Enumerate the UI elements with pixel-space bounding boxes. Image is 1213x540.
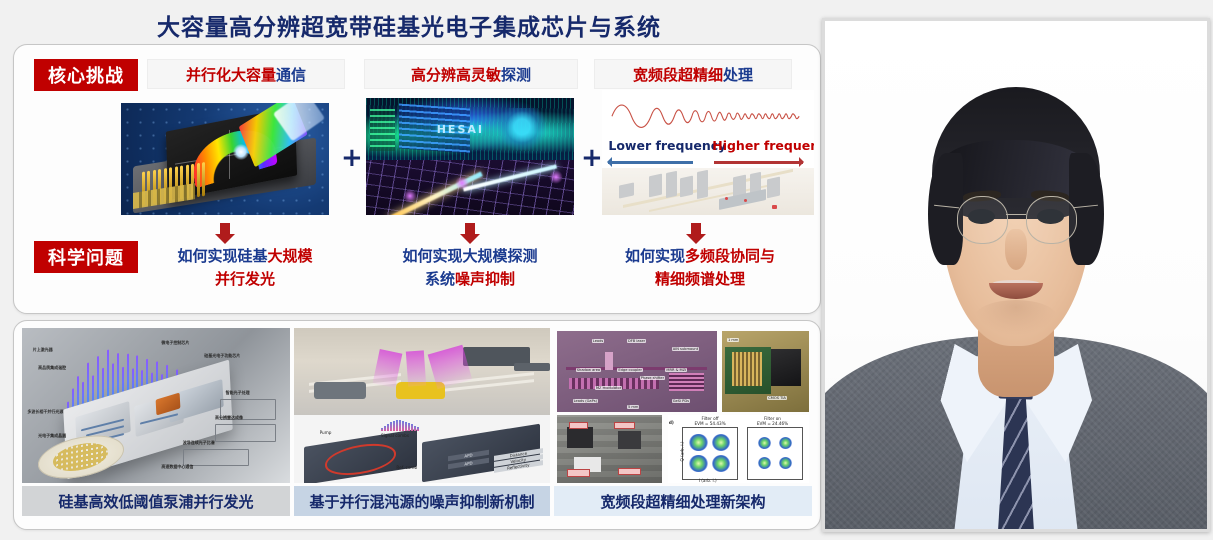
iso-wafer-die-grid xyxy=(54,439,109,474)
schem-label-ref-comb: Ref. comb xyxy=(396,465,417,470)
bottom-panel: 片上激光器 高品质集成谐腔 多波长相干并行光源 微电子控制芯片 硅基光电子功能芯… xyxy=(13,320,821,530)
micro-label: MZ modulator xyxy=(595,386,622,390)
science-question-2-blue: 如何实现大规模探测 xyxy=(402,247,537,265)
iso-label: 多波长相干并行光源 xyxy=(27,409,63,415)
bottom-caption-3: 宽频段超精细处理新架构 xyxy=(554,486,812,516)
iso-label: 光电子集成晶圆 xyxy=(38,433,66,439)
micro-label: Phase shifter xyxy=(640,376,665,380)
lidar-glow-dot xyxy=(549,170,563,184)
science-question-1-blue: 如何实现硅基 xyxy=(177,247,267,265)
chirp-waveform xyxy=(610,95,805,138)
micro-label: DFB laser xyxy=(627,339,646,343)
iso-label: 微电子控制芯片 xyxy=(161,340,189,346)
portrait-hair-side-left xyxy=(928,153,962,265)
iso-label: 高分辨雷达成像 xyxy=(215,415,243,421)
image-photonic-integrated-chip-diagram: 片上激光器 高品质集成谐腔 多波长相干并行光源 微电子控制芯片 硅基光电子功能芯… xyxy=(22,328,290,483)
constellation-diagrams: d) Filter off EVM = 54.43% Filter on EVM… xyxy=(668,415,810,483)
chip-micrograph: Leads DFB laser AlN submount Shadow area… xyxy=(557,331,717,412)
tag-core-challenge: 核心挑战 xyxy=(34,59,138,91)
science-question-3: 如何实现多频段协同与 精细频谱处理 xyxy=(600,245,800,292)
image-frequency-spectrum: Lower frequency Higher frequency xyxy=(602,90,814,215)
constellation-left-value: EVM = 54.43% xyxy=(685,421,736,426)
iso-label: 高速数据中心通信 xyxy=(161,464,193,470)
city-applications-illustration xyxy=(602,168,814,216)
schem-label-pump: Pump xyxy=(320,430,332,435)
lidar-pointcloud-scene: HESAI xyxy=(366,98,574,161)
micro2-label: CMOS TIA xyxy=(767,396,787,400)
constellation-panel-letter: d) xyxy=(669,420,674,425)
iso-label: 智能光子处理 xyxy=(226,390,250,396)
street-scene xyxy=(294,328,550,415)
image-lidar-point-cloud: HESAI xyxy=(366,98,574,215)
image-silicon-photonic-chip xyxy=(121,103,329,215)
column-header-3-blue: 处理 xyxy=(723,64,753,85)
image-chip-micrograph-and-constellations: Leads DFB laser AlN submount Shadow area… xyxy=(554,328,812,483)
lidar-chip-grid-scene xyxy=(366,160,574,215)
column-header-2-blue: 探测 xyxy=(501,64,531,85)
lidar-glow-dot xyxy=(403,189,417,203)
slide-root: 大容量高分辨超宽带硅基光电子集成芯片与系统 核心挑战 科学问题 并行化大容量通信… xyxy=(0,0,1213,540)
chaos-source-schematic: APD APD Distance Velocity Reflectivity P… xyxy=(294,415,550,483)
iso-label: 片上激光器 xyxy=(33,347,53,353)
portrait-glasses-lens-left xyxy=(957,196,1009,244)
micro2-scalebar-label: 1 mm xyxy=(727,338,739,342)
tag-science-question: 科学问题 xyxy=(34,241,138,273)
signal-comb-plot xyxy=(381,420,419,431)
arrow-higher-frequency xyxy=(714,161,803,164)
page-title: 大容量高分辨超宽带硅基光电子集成芯片与系统 xyxy=(0,8,818,42)
column-header-2: 高分辨高灵敏探测 xyxy=(364,59,578,89)
image-lidar-street-and-schematic: APD APD Distance Velocity Reflectivity P… xyxy=(294,328,550,483)
label-higher-frequency: Higher frequency xyxy=(712,138,814,153)
lab-setup-photo xyxy=(557,415,663,483)
iso-label: 高品质集成谐腔 xyxy=(38,365,66,371)
street-car-far xyxy=(514,363,550,372)
micro-label: MRR & MZI xyxy=(665,368,687,372)
plus-sign-1: + xyxy=(341,145,363,171)
iso-label: 硅基光电子功能芯片 xyxy=(204,353,240,359)
constellation-right-value: EVM = 24.46% xyxy=(747,421,798,426)
iso-label: 波导连续光子比谱 xyxy=(183,440,215,446)
column-header-3-red: 宽频段超精细 xyxy=(633,64,723,85)
bottom-cell-2: APD APD Distance Velocity Reflectivity P… xyxy=(294,328,550,522)
bottom-caption-1: 硅基高效低阈值泵浦并行发光 xyxy=(22,486,290,516)
micro-label: GeSi PDs xyxy=(672,399,690,403)
portrait-photo xyxy=(822,18,1210,532)
lidar-tree xyxy=(495,108,549,150)
portrait-glasses-bridge xyxy=(1006,214,1026,215)
lidar-hesai-label: HESAI xyxy=(437,123,484,136)
bottom-cell-1: 片上激光器 高品质集成谐腔 多波长相干并行光源 微电子控制芯片 硅基光电子功能芯… xyxy=(22,328,290,522)
micro-label: Leads (GaPs) xyxy=(573,399,598,403)
science-question-3-red: 多频段协同与 xyxy=(685,247,775,265)
constellation-plot-filter-on xyxy=(747,427,803,479)
science-question-3-blue: 如何实现 xyxy=(625,247,685,265)
bottom-cell-3: Leads DFB laser AlN submount Shadow area… xyxy=(554,328,812,522)
constellation-ylabel: Q (arb. i.) xyxy=(679,441,684,461)
micro-scalebar-label: 5 mm xyxy=(627,405,639,409)
micro-label: Shadow area xyxy=(576,368,601,372)
top-panel: 核心挑战 科学问题 并行化大容量通信 高分辨高灵敏探测 宽频段超精细处理 xyxy=(13,44,821,314)
science-question-2: 如何实现大规模探测 系统噪声抑制 xyxy=(372,245,568,292)
label-lower-frequency: Lower frequency xyxy=(608,138,726,153)
portrait-nose xyxy=(1005,229,1028,270)
constellation-xlabel: I (arb. i.) xyxy=(699,478,717,483)
micro-label: AlN submount xyxy=(672,347,699,351)
science-question-2-red: 噪声抑制 xyxy=(455,270,515,288)
portrait-glasses-lens-right xyxy=(1026,196,1078,244)
column-header-2-red: 高分辨高灵敏 xyxy=(411,64,501,85)
micro-label: Edge coupler xyxy=(617,368,643,372)
lidar-building-left xyxy=(370,109,395,151)
column-header-1: 并行化大容量通信 xyxy=(147,59,345,89)
street-van xyxy=(314,382,365,399)
lidar-beam xyxy=(405,350,425,386)
iso-schematic-b xyxy=(215,424,276,442)
portrait-chin xyxy=(974,300,1058,336)
chip-package-photo: CMOS TIA 1 mm xyxy=(722,331,810,412)
schem-label-signal-combs: Signal combs xyxy=(381,433,409,438)
science-question-1: 如何实现硅基大规模 并行发光 xyxy=(147,245,343,292)
bottom-caption-2: 基于并行混沌源的噪声抑制新机制 xyxy=(294,486,550,516)
science-question-2-blue2: 系统 xyxy=(425,270,455,288)
constellation-plot-filter-off xyxy=(682,427,738,479)
plus-sign-2: + xyxy=(581,145,603,171)
science-question-1-red: 大规模 xyxy=(268,247,313,265)
column-header-1-red: 并行化大容量 xyxy=(186,64,276,85)
micro-label: Leads xyxy=(592,339,605,343)
science-question-3-red2: 精细频谱处理 xyxy=(655,270,745,288)
column-header-1-blue: 通信 xyxy=(276,64,306,85)
column-header-3: 宽频段超精细处理 xyxy=(594,59,792,89)
frequency-axis-row: Lower frequency Higher frequency xyxy=(602,138,814,171)
science-question-1-red2: 并行发光 xyxy=(215,270,275,288)
arrow-lower-frequency xyxy=(608,161,693,164)
